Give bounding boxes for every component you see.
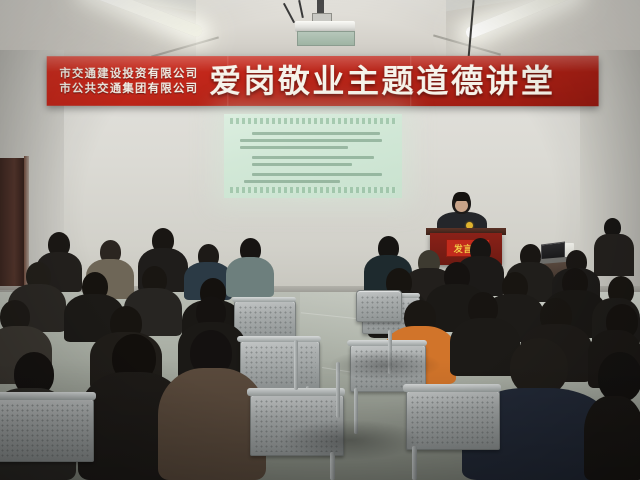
slide-text-line-4 (252, 156, 374, 159)
banner-gloss (47, 56, 599, 72)
audience-body-r4b (584, 396, 640, 480)
chair-mesh (410, 395, 496, 446)
projection-screen (224, 114, 402, 198)
slide-text-line-5 (252, 163, 352, 166)
chair-top-rail (232, 297, 296, 302)
chair-mesh (238, 305, 292, 336)
slide-border-bottom (230, 187, 396, 193)
event-banner: 市交通建设投资有限公司 市公共交通集团有限公司 爱岗敬业主题道德讲堂 (47, 56, 599, 106)
slide-text-line-6 (252, 173, 382, 176)
floor-shadow-1 (280, 420, 420, 460)
chair-leg-aisle-1 (294, 340, 298, 390)
av-operator-body (594, 234, 634, 276)
banner-org-line2: 市公共交通集团有限公司 (59, 81, 198, 96)
chair-top-rail (237, 336, 321, 342)
chair-mesh (244, 345, 316, 386)
door[interactable] (0, 158, 26, 290)
audience-body-l1e (226, 257, 274, 297)
chair-top-rail (403, 384, 501, 392)
slide-text-line-1 (252, 132, 380, 135)
projector-body-bottom (297, 31, 355, 46)
slide-text-line-3 (240, 146, 348, 149)
banner-seam-2 (410, 56, 411, 106)
chair-top-rail (0, 392, 96, 400)
meeting-room-photo: 市交通建设投资有限公司 市公共交通集团有限公司 爱岗敬业主题道德讲堂 发言席 (0, 0, 640, 480)
ceiling-projector (287, 0, 359, 45)
chair-top-rail (347, 340, 427, 346)
audience-head-r4b (598, 352, 640, 402)
chair-mesh (360, 295, 398, 318)
chair-mesh (0, 403, 90, 458)
chair-leg (412, 446, 417, 480)
banner-seam-1 (227, 56, 228, 106)
slide-text-line-2 (240, 139, 382, 142)
slide-border-top (230, 118, 396, 124)
slide-text-line-7 (244, 180, 340, 183)
floor-shadow-2 (330, 350, 440, 380)
speaker-hair (453, 192, 470, 201)
